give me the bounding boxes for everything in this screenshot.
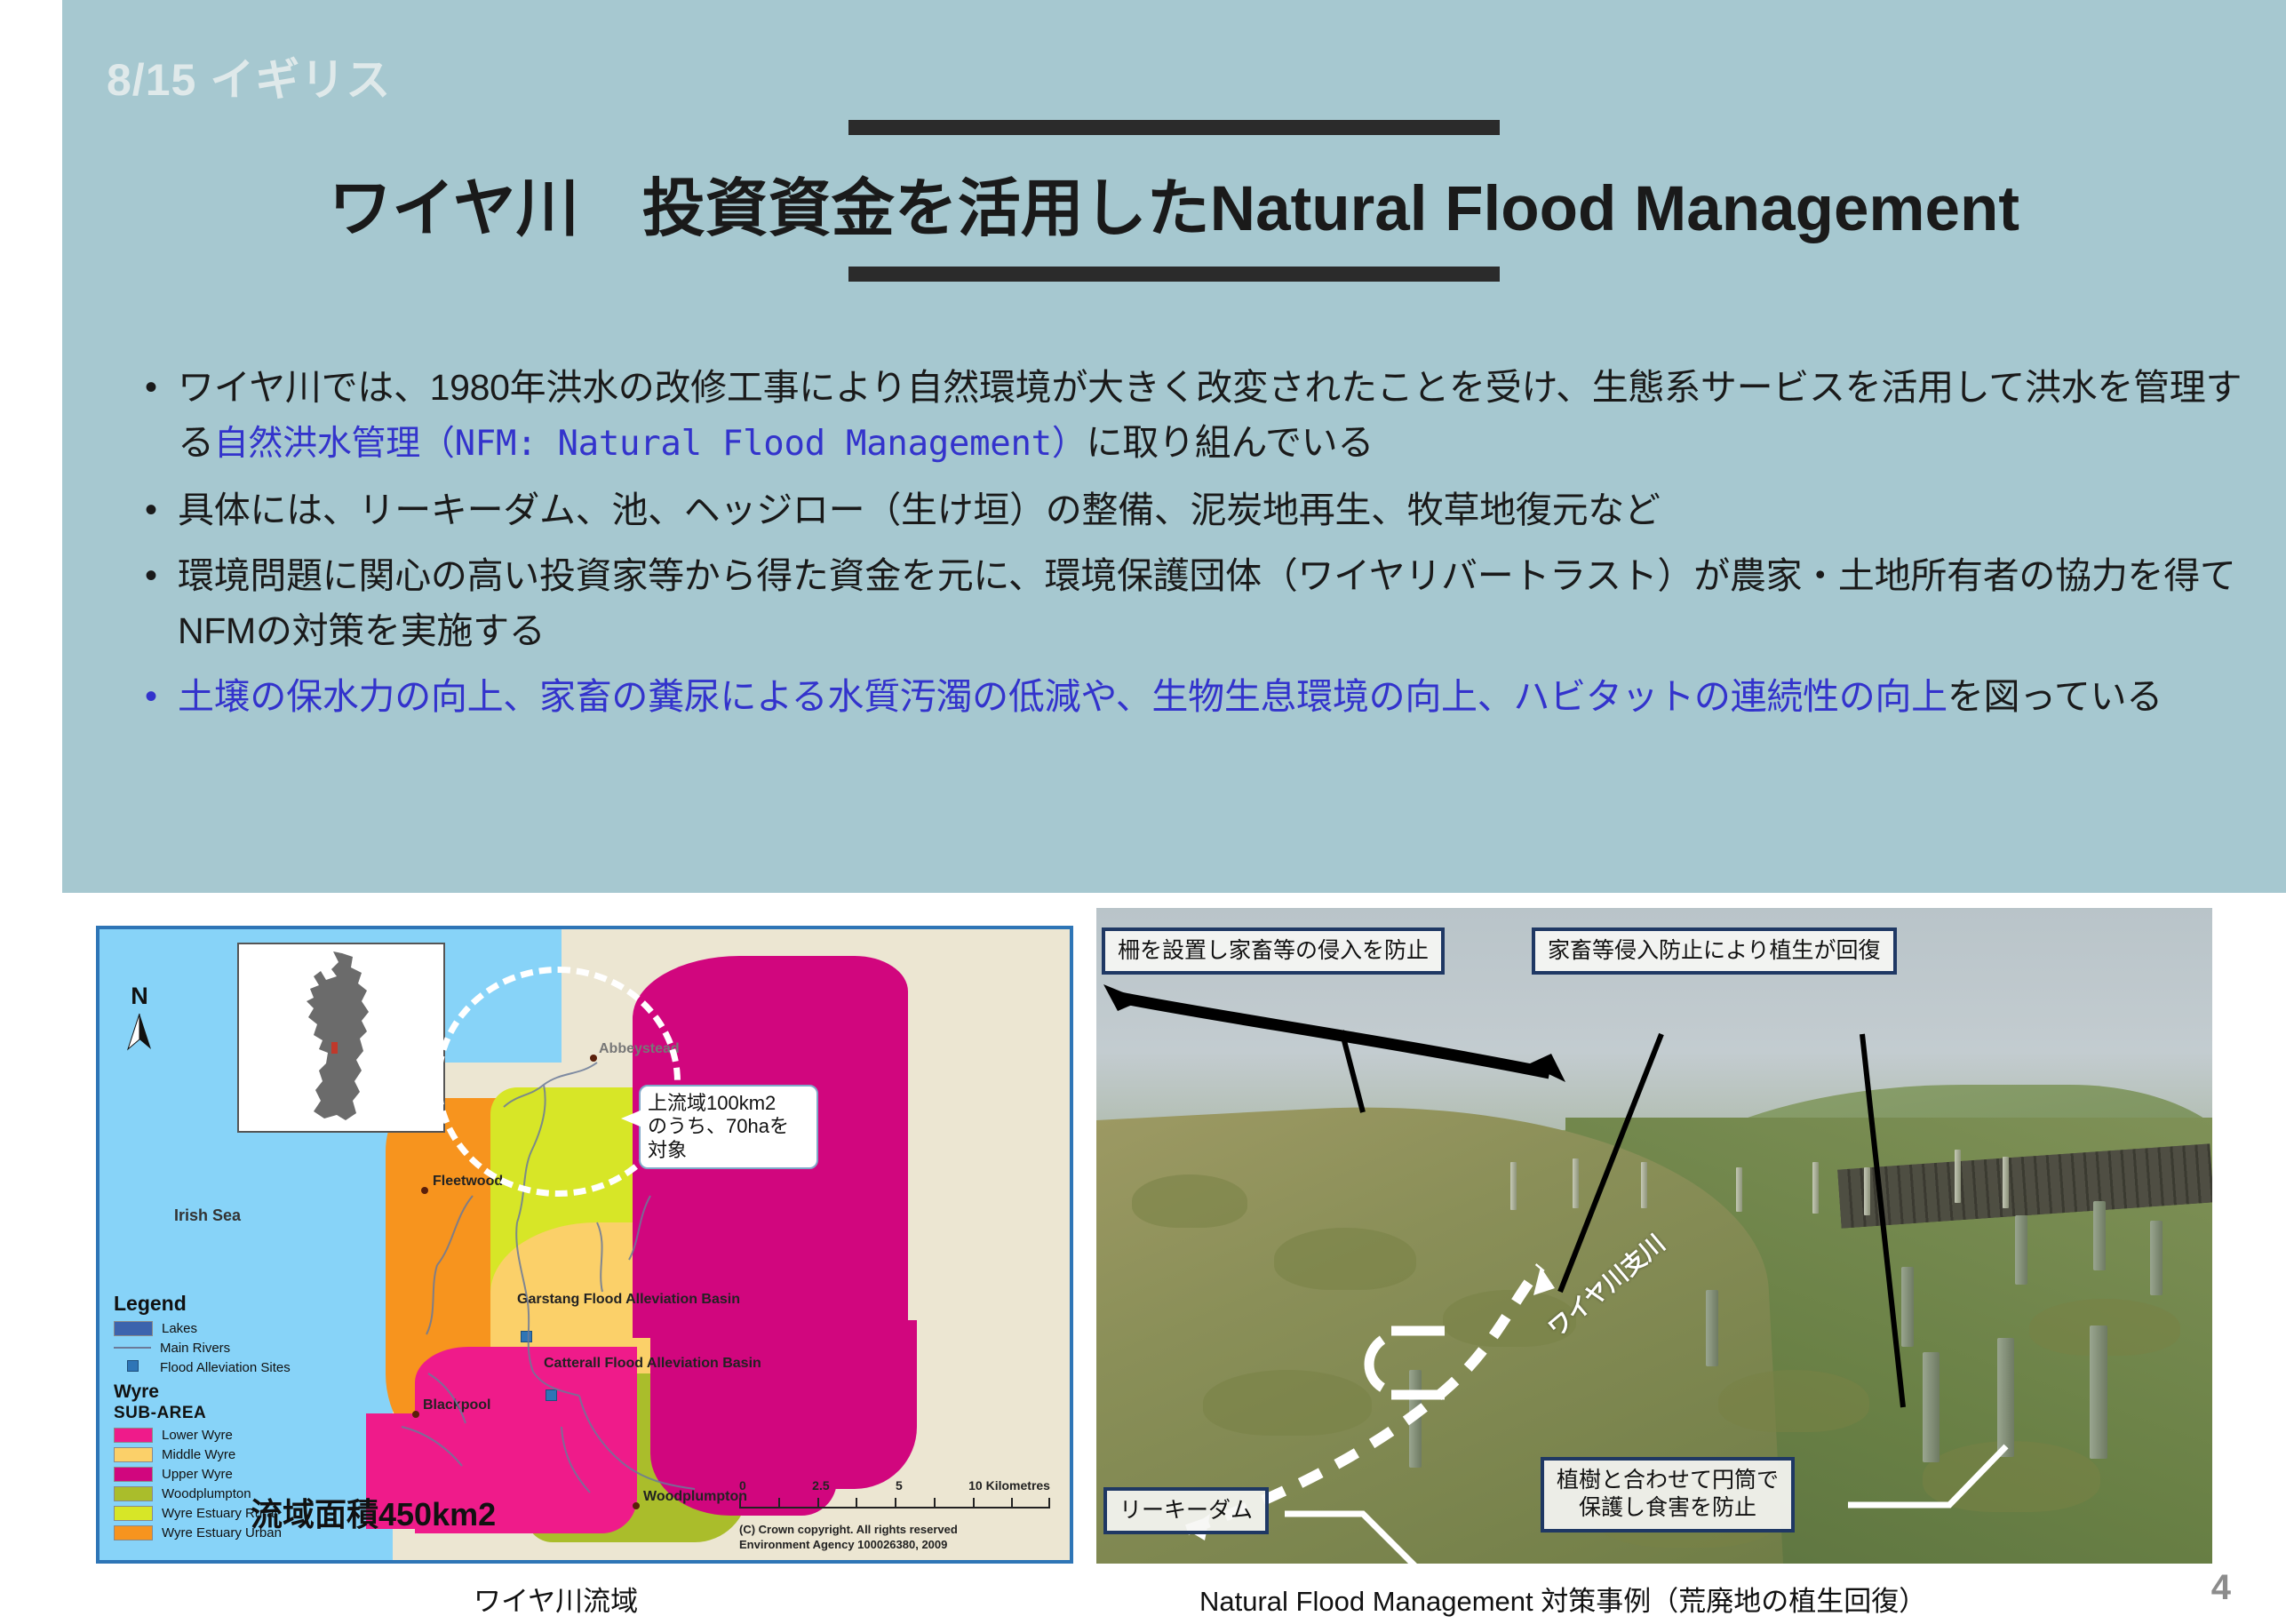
scale-tick: 10 Kilometres	[968, 1478, 1050, 1493]
legend-label: Woodplumpton	[162, 1486, 251, 1501]
map-copyright: (C) Crown copyright. All rights reserved…	[739, 1522, 1050, 1553]
grass-tuft	[1718, 1370, 1869, 1432]
bullet-segment-highlight: 自然洪水管理（NFM: Natural Flood Management）	[214, 424, 1087, 464]
wyre-catchment-map: N Irish Sea Fleetwood Blackpool Abbeyste…	[96, 926, 1073, 1564]
list-item: • ワイヤ川では、1980年洪水の改修工事により自然環境が大きく改変されたことを…	[124, 360, 2257, 472]
grass-tuft	[1132, 1174, 1247, 1228]
planting-stake	[1812, 1162, 1819, 1214]
legend-label: Main Rivers	[160, 1341, 230, 1356]
lower-wyre-swatch	[114, 1428, 153, 1443]
callout-line: 上流域100km2	[648, 1092, 809, 1115]
bullet-list: • ワイヤ川では、1980年洪水の改修工事により自然環境が大きく改変されたことを…	[124, 360, 2257, 735]
place-label-blackpool: Blackpool	[423, 1397, 490, 1413]
planting-stake	[1955, 1150, 1961, 1203]
scale-line	[739, 1494, 1050, 1509]
caption-map: ワイヤ川流域	[474, 1579, 638, 1619]
annotation-leaky-dam: リーキーダム	[1103, 1487, 1269, 1534]
scale-tick: 0	[739, 1478, 746, 1493]
uk-locator-inset	[237, 943, 445, 1133]
catchment-area-note: 流域面積450km2	[251, 1489, 496, 1535]
figures-area: N Irish Sea Fleetwood Blackpool Abbeyste…	[0, 897, 2286, 1624]
north-arrow-icon: N	[126, 983, 153, 1051]
legend-label: Lower Wyre	[162, 1428, 233, 1443]
bullet-marker: •	[124, 360, 178, 415]
grass-tuft	[1274, 1228, 1416, 1290]
title-rule-bottom	[848, 267, 1500, 282]
flood-alleviation-site-dot	[546, 1389, 557, 1401]
title-block: ワイヤ川 投資資金を活用したNatural Flood Management	[62, 120, 2286, 282]
copyright-line: (C) Crown copyright. All rights reserved	[739, 1522, 1050, 1538]
legend-item-main-rivers: Main Rivers	[114, 1340, 305, 1356]
uk-outline-icon	[275, 950, 408, 1124]
bullet-segment: を図っている	[1947, 676, 2163, 717]
annotation-fence: 柵を設置し家畜等の侵入を防止	[1102, 927, 1445, 975]
city-dot	[412, 1411, 419, 1418]
planting-stake	[2003, 1157, 2009, 1208]
legend-label: Lakes	[162, 1321, 197, 1336]
tree-protection-tube	[2093, 1201, 2106, 1270]
page-number: 4	[2211, 1568, 2231, 1608]
map-scale-bar: 0 2.5 5 10 Kilometres	[739, 1478, 1050, 1509]
legend-group-subtitle: SUB-AREA	[114, 1404, 305, 1423]
lakes-swatch	[114, 1321, 153, 1336]
middle-wyre-swatch	[114, 1447, 153, 1462]
place-label-garstang-basin: Garstang Flood Alleviation Basin	[517, 1292, 740, 1308]
copyright-line: Environment Agency 100026380, 2009	[739, 1537, 1050, 1553]
flood-site-point-icon	[114, 1360, 151, 1375]
title-rule-top	[848, 120, 1500, 135]
legend-group-title: Wyre	[114, 1381, 305, 1403]
legend-item-flood-sites: Flood Alleviation Sites	[114, 1359, 305, 1375]
legend-label: Flood Alleviation Sites	[160, 1360, 291, 1375]
planting-stake	[1641, 1162, 1647, 1208]
legend-item-lower-wyre: Lower Wyre	[114, 1427, 305, 1443]
callout-line: 対象	[648, 1139, 809, 1162]
list-item: • 具体には、リーキーダム、池、ヘッジロー（生け垣）の整備、泥炭地再生、牧草地復…	[124, 482, 2257, 537]
scale-tick: 5	[896, 1478, 903, 1493]
bullet-segment-highlight: 土壌の保水力の向上、家畜の糞尿による水質汚濁の低減や、生物生息環境の向上、ハビタ…	[178, 676, 1947, 717]
bullet-text: 土壌の保水力の向上、家畜の糞尿による水質汚濁の低減や、生物生息環境の向上、ハビタ…	[178, 669, 2257, 724]
city-dot	[633, 1502, 640, 1509]
caption-photo: Natural Flood Management 対策事例（荒廃地の植生回復）	[1199, 1579, 1926, 1619]
nfm-site-photo: ワイヤ川支川 柵を設置し家畜等の侵入を防止 家畜等侵入防止により植生が回復 リー…	[1096, 908, 2212, 1564]
place-label-catterall-basin: Catterall Flood Alleviation Basin	[544, 1356, 761, 1372]
subarea-upper-wyre	[757, 1320, 917, 1489]
woodplumpton-swatch	[114, 1486, 153, 1501]
bullet-text: 環境問題に関心の高い投資家等から得た資金を元に、環境保護団体（ワイヤリバートラス…	[178, 548, 2257, 658]
legend-item-upper-wyre: Upper Wyre	[114, 1466, 305, 1482]
place-label-woodplumpton: Woodplumpton	[643, 1489, 747, 1505]
planting-stake	[1864, 1167, 1870, 1215]
legend-item-middle-wyre: Middle Wyre	[114, 1446, 305, 1462]
upstream-callout: 上流域100km2 のうち、70haを 対象	[639, 1085, 818, 1169]
legend-title: Legend	[114, 1292, 305, 1316]
callout-line: のうち、70haを	[648, 1115, 809, 1138]
page-title: ワイヤ川 投資資金を活用したNatural Flood Management	[62, 158, 2286, 249]
deck-tag: 8/15 イギリス	[107, 44, 391, 108]
legend-label: Middle Wyre	[162, 1447, 235, 1462]
tree-protection-tube	[1706, 1290, 1718, 1366]
tree-protection-tube	[1409, 1370, 1422, 1468]
wyre-estuary-rural-swatch	[114, 1506, 153, 1521]
tree-protection-tube	[2090, 1325, 2107, 1459]
upper-wyre-swatch	[114, 1467, 153, 1482]
bullet-marker: •	[124, 669, 178, 724]
bullet-marker: •	[124, 482, 178, 537]
tree-protection-tube	[2150, 1221, 2163, 1295]
slide-banner: 8/15 イギリス ワイヤ川 投資資金を活用したNatural Flood Ma…	[62, 0, 2286, 893]
scale-tick: 2.5	[812, 1478, 829, 1493]
tree-protection-tube	[2015, 1215, 2027, 1285]
tree-protection-tube	[1901, 1267, 1914, 1347]
flood-alleviation-site-dot	[521, 1331, 532, 1342]
catterall-basin-label: Catterall Flood Alleviation Basin	[544, 1356, 761, 1371]
bullet-text: 具体には、リーキーダム、池、ヘッジロー（生け垣）の整備、泥炭地再生、牧草地復元な…	[178, 482, 2257, 537]
list-item: • 土壌の保水力の向上、家畜の糞尿による水質汚濁の低減や、生物生息環境の向上、ハ…	[124, 669, 2257, 724]
planting-stake	[1573, 1158, 1579, 1208]
planting-stake	[1736, 1167, 1742, 1212]
annotation-line: 植樹と合わせて円筒で	[1557, 1467, 1779, 1494]
grass-tuft	[1203, 1370, 1372, 1436]
bullet-segment: 具体には、リーキーダム、池、ヘッジロー（生け垣）の整備、泥炭地再生、牧草地復元な…	[178, 490, 1661, 530]
annotation-vegetation: 家畜等侵入防止により植生が回復	[1532, 927, 1897, 975]
tree-protection-tube	[1997, 1338, 2014, 1457]
bullet-segment: に取り組んでいる	[1087, 422, 1374, 463]
bullet-text: ワイヤ川では、1980年洪水の改修工事により自然環境が大きく改変されたことを受け…	[178, 360, 2257, 472]
legend-label: Upper Wyre	[162, 1467, 233, 1482]
wyre-estuary-urban-swatch	[114, 1525, 153, 1540]
planting-stake	[1510, 1162, 1517, 1210]
garstang-basin-label: Garstang Flood Alleviation Basin	[517, 1292, 740, 1307]
sea-label: Irish Sea	[174, 1206, 241, 1225]
main-rivers-line-icon	[114, 1347, 151, 1349]
bullet-segment: 環境問題に関心の高い投資家等から得た資金を元に、環境保護団体（ワイヤリバートラス…	[178, 555, 2236, 651]
annotation-line: 保護し食害を防止	[1557, 1494, 1779, 1522]
legend-item-lakes: Lakes	[114, 1320, 305, 1336]
list-item: • 環境問題に関心の高い投資家等から得た資金を元に、環境保護団体（ワイヤリバート…	[124, 548, 2257, 658]
tree-protection-tube	[1923, 1352, 1940, 1462]
annotation-tube-protection-box: 植樹と合わせて円筒で 保護し食害を防止	[1541, 1457, 1795, 1532]
bullet-marker: •	[124, 548, 178, 603]
city-dot	[421, 1187, 428, 1194]
